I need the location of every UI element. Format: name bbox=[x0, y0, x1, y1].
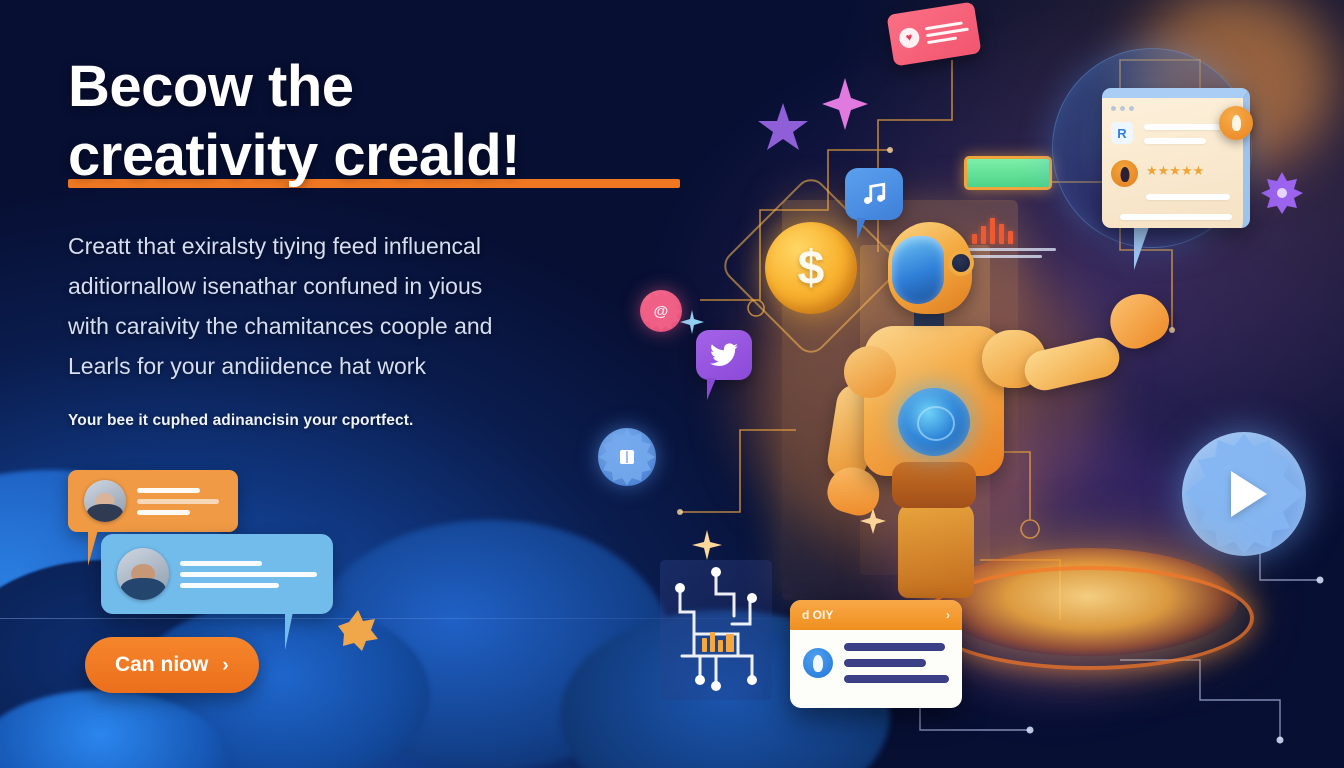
circuit-chip-diagram bbox=[660, 560, 772, 700]
hero-banner: Becow the creativity creald! Creatt that… bbox=[0, 0, 1344, 768]
bubble-tail bbox=[285, 612, 307, 650]
page-title: Becow the creativity creald! bbox=[68, 52, 708, 190]
body-line: Learls for your andiidence hat work bbox=[68, 346, 708, 386]
brand-logo-icon: R bbox=[1111, 122, 1133, 144]
hero-body-copy: Creatt that exiralsty tiying feed influe… bbox=[68, 226, 708, 386]
hero-text-block: Becow the creativity creald! Creatt that… bbox=[68, 52, 708, 430]
robot-chest-core bbox=[898, 388, 970, 456]
review-line bbox=[1146, 194, 1230, 200]
profile-card[interactable]: d OIY › bbox=[790, 600, 962, 708]
body-line: with caraivity the chamitances coople an… bbox=[68, 306, 708, 346]
lcd-screen bbox=[964, 156, 1052, 190]
user-avatar-1 bbox=[84, 480, 126, 522]
play-triangle-icon bbox=[1231, 471, 1267, 517]
chevron-right-icon: › bbox=[946, 608, 950, 622]
review-line bbox=[1120, 214, 1232, 220]
card-body bbox=[790, 630, 962, 696]
cta-button[interactable]: Can niow › bbox=[85, 637, 259, 693]
cta-label: Can niow bbox=[115, 653, 208, 677]
bubble-text-lines bbox=[180, 561, 317, 588]
bubble-tail bbox=[707, 378, 726, 400]
robot-leg bbox=[898, 502, 974, 598]
pin-badge-icon bbox=[1219, 106, 1253, 140]
heart-icon: ♥ bbox=[898, 26, 921, 49]
robot-visor bbox=[892, 236, 944, 304]
headline-line-1: Becow the bbox=[68, 54, 354, 119]
bubble-orange[interactable] bbox=[68, 470, 238, 532]
review-line bbox=[1144, 138, 1206, 144]
music-bubble[interactable] bbox=[845, 168, 903, 220]
avatar-shoulders bbox=[87, 504, 123, 522]
hero-subtext: Your bee it cuphed adinancisin your cpor… bbox=[68, 412, 708, 430]
robot-left-shoulder bbox=[844, 346, 896, 398]
user-avatar-2 bbox=[117, 548, 169, 600]
document-glyph bbox=[618, 448, 636, 466]
reviewer-avatar bbox=[1111, 160, 1138, 187]
twitter-bird-icon bbox=[710, 343, 738, 367]
bubble-blue[interactable] bbox=[101, 534, 333, 614]
notification-text-lines bbox=[925, 20, 970, 44]
review-popup-card[interactable]: R ★★★★★ bbox=[1102, 88, 1250, 228]
blue-user-avatar bbox=[803, 648, 833, 678]
document-gear-icon[interactable] bbox=[598, 428, 656, 486]
ai-robot-mascot bbox=[836, 222, 1136, 622]
avatar-shoulders bbox=[121, 578, 166, 600]
chevron-right-icon: › bbox=[222, 656, 228, 675]
card-title: d OIY bbox=[802, 608, 833, 622]
robot-lower-body bbox=[892, 462, 976, 508]
testimonial-bubbles bbox=[68, 470, 388, 630]
star-rating: ★★★★★ bbox=[1146, 164, 1204, 177]
robot-ear-module bbox=[948, 250, 974, 276]
headline-line-2: creativity creald! bbox=[68, 123, 520, 188]
body-line: aditiornallow isenathar confuned in yiou… bbox=[68, 266, 708, 306]
bubble-text-lines bbox=[137, 488, 222, 515]
chip-traces bbox=[660, 560, 772, 700]
body-line: Creatt that exiralsty tiying feed influe… bbox=[68, 226, 708, 266]
play-gear-icon[interactable] bbox=[1182, 432, 1306, 556]
card-text-lines bbox=[844, 643, 949, 683]
review-card-tail bbox=[1134, 224, 1166, 270]
music-note-icon bbox=[861, 181, 887, 207]
window-dots bbox=[1111, 106, 1134, 111]
review-line bbox=[1144, 124, 1222, 130]
card-titlebar: d OIY › bbox=[790, 600, 962, 630]
headline-line-2-wrap: creativity creald! bbox=[68, 121, 520, 190]
